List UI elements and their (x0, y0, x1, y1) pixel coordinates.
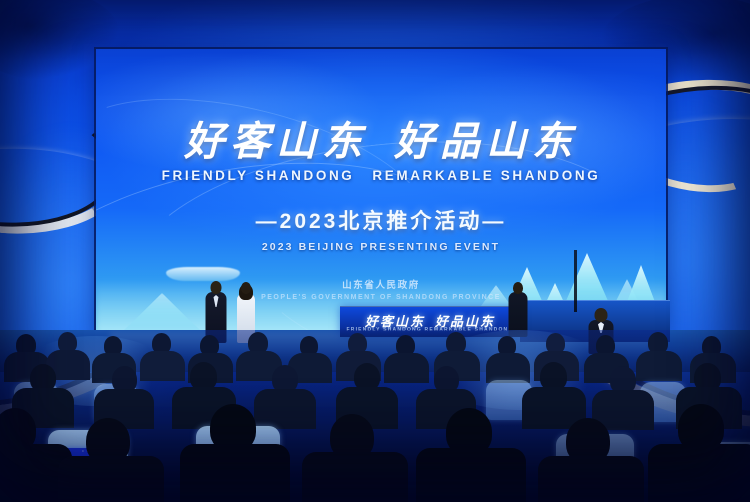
audience-shoulders (140, 351, 185, 381)
audience-shoulders (636, 351, 682, 381)
stage-person-guest-left (508, 282, 528, 337)
audience-shoulders (486, 353, 530, 383)
audience-shoulders (302, 452, 408, 502)
event-stage-photo: 好客山东好品山东 FRIENDLY SHANDONGREMARKABLE SHA… (0, 0, 750, 502)
guest-left-head (513, 282, 523, 294)
audience-shoulders (416, 448, 526, 502)
audience-shoulders (648, 444, 750, 502)
main-title-cn-right: 好品山东 (394, 118, 578, 165)
audience-shoulders (254, 389, 316, 429)
audience-shoulders (384, 353, 429, 383)
main-led-screen: 好客山东好品山东 FRIENDLY SHANDONGREMARKABLE SHA… (96, 49, 666, 339)
audience-shoulders (58, 456, 164, 502)
main-title-cn: 好客山东好品山东 (96, 121, 666, 163)
main-title-cn-left: 好客山东 (184, 118, 368, 165)
main-title-en: FRIENDLY SHANDONGREMARKABLE SHANDONG (96, 168, 666, 183)
organizer-name-cn: 山东省人民政府 (96, 277, 666, 291)
host-male-head (211, 281, 222, 294)
host-female-head (241, 282, 251, 294)
main-title-en-right: REMARKABLE SHANDONG (372, 168, 600, 183)
guest-podium-head (595, 308, 608, 322)
microphone-stand (574, 250, 577, 312)
event-subtitle-cn: —2023北京推介活动— (96, 205, 666, 235)
screen-title-block: 好客山东好品山东 FRIENDLY SHANDONGREMARKABLE SHA… (96, 121, 666, 301)
main-title-en-left: FRIENDLY SHANDONG (162, 168, 355, 183)
audience-shoulders (180, 444, 290, 502)
audience-area: • • • (0, 330, 750, 502)
audience-shoulders (538, 456, 644, 502)
event-subtitle-en: 2023 BEIJING PRESENTING EVENT (96, 241, 666, 253)
